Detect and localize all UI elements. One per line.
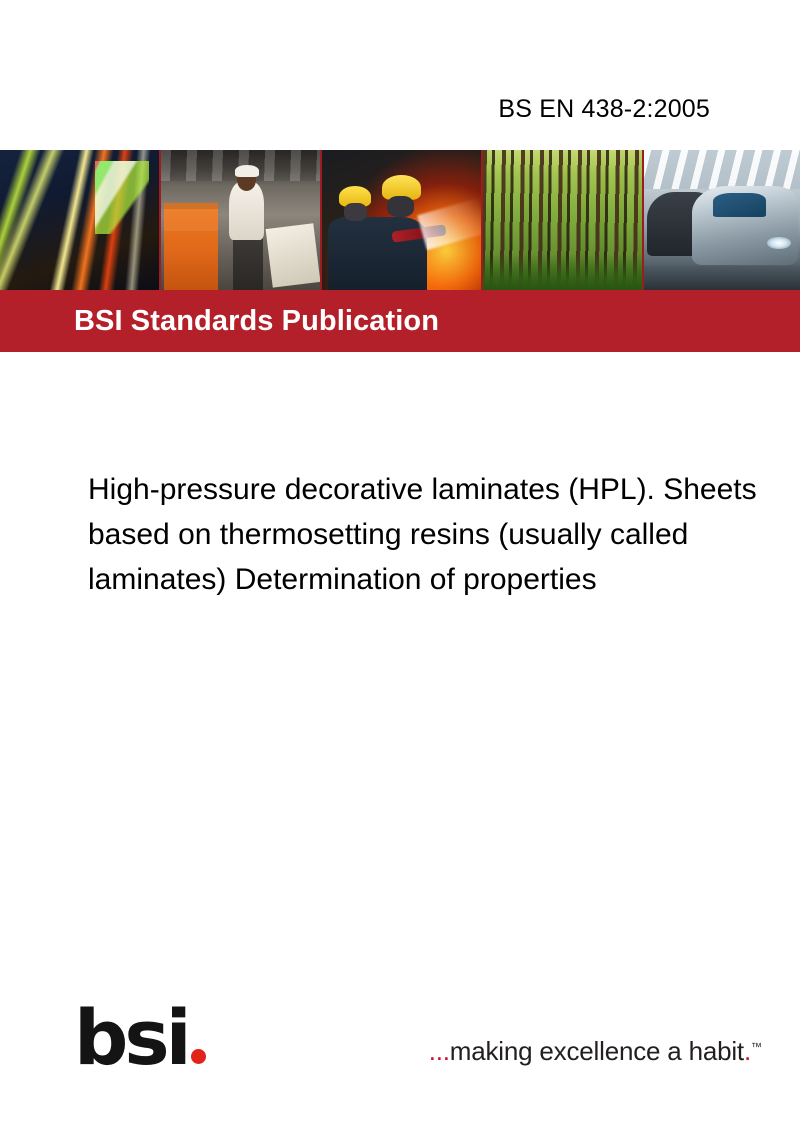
forest-photo — [483, 150, 644, 290]
tagline-ellipsis: ... — [429, 1036, 450, 1066]
bsi-standards-banner: BSI Standards Publication — [0, 290, 800, 352]
hero-image-strip — [0, 150, 800, 290]
assembly-ceiling-lights — [644, 150, 800, 189]
title-line-3: laminates) Determination of properties — [88, 557, 800, 602]
warehouse-worker-photo — [161, 150, 322, 290]
car-assembly-photo — [644, 150, 800, 290]
page-title: High-pressure decorative laminates (HPL)… — [88, 467, 800, 602]
tagline-text: making excellence a habit — [450, 1036, 744, 1066]
assembly-car-headlight — [767, 237, 790, 250]
bsi-logo: bsi — [74, 1000, 206, 1064]
warehouse-orange-crate — [164, 203, 218, 290]
firefighters-photo — [322, 150, 483, 290]
title-line-2: based on thermosetting resins (usually c… — [88, 512, 800, 557]
warehouse-worker-legs — [233, 234, 263, 290]
banner-label: BSI Standards Publication — [74, 305, 439, 338]
bsi-tagline: ...making excellence a habit.™ — [429, 1036, 762, 1067]
light-trails-photo — [0, 150, 161, 290]
water-spray — [417, 198, 483, 251]
warehouse-carton — [266, 223, 320, 287]
warehouse-worker-cap — [235, 165, 259, 176]
assembly-car-windscreen — [713, 193, 766, 217]
title-line-1: High-pressure decorative laminates (HPL)… — [88, 467, 800, 512]
firefighter-face-right — [387, 196, 414, 217]
trademark-icon: ™ — [751, 1041, 762, 1053]
bsi-logo-dot-icon — [191, 1049, 206, 1064]
firefighter-face-left — [344, 203, 366, 221]
tagline-period: . — [744, 1036, 751, 1066]
assembly-floor — [644, 266, 800, 290]
bsi-logo-wordmark: bsi — [74, 1000, 188, 1076]
standard-number: BS EN 438-2:2005 — [498, 95, 710, 124]
